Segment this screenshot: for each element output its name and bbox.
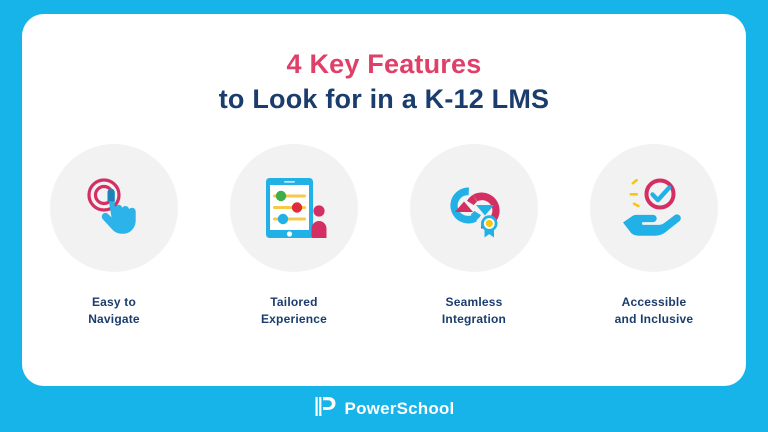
- feature-item-easy-to-navigate: Easy to Navigate: [50, 144, 178, 328]
- features-row: Easy to Navigate: [50, 144, 718, 328]
- powerschool-wordmark: PowerSchool: [345, 399, 455, 419]
- powerschool-p-mark-icon: [314, 395, 337, 423]
- feature-item-seamless-integration: Seamless Integration: [410, 144, 538, 328]
- page-title: 4 Key Features to Look for in a K-12 LMS: [219, 48, 550, 116]
- icon-circle-4: [590, 144, 718, 272]
- content-card: 4 Key Features to Look for in a K-12 LMS: [22, 14, 746, 386]
- sync-arrows-badge-icon: [437, 171, 511, 245]
- feature-label-3: Seamless Integration: [442, 294, 506, 328]
- icon-circle-3: [410, 144, 538, 272]
- feature-label-1: Easy to Navigate: [88, 294, 140, 328]
- icon-circle-1: [50, 144, 178, 272]
- title-line-primary: 4 Key Features: [219, 48, 550, 81]
- feature-label-2: Tailored Experience: [261, 294, 327, 328]
- tablet-sliders-icon: [257, 171, 331, 245]
- feature-item-accessible-and-inclusive: Accessible and Inclusive: [590, 144, 718, 328]
- feature-item-tailored-experience: Tailored Experience: [230, 144, 358, 328]
- infographic-poster: 4 Key Features to Look for in a K-12 LMS: [0, 0, 768, 432]
- title-line-secondary: to Look for in a K-12 LMS: [219, 83, 550, 116]
- hand-checkmark-icon: [617, 171, 691, 245]
- icon-circle-2: [230, 144, 358, 272]
- feature-label-4: Accessible and Inclusive: [615, 294, 694, 328]
- tap-gesture-icon: [77, 171, 151, 245]
- footer-logo-bar: PowerSchool: [0, 386, 768, 432]
